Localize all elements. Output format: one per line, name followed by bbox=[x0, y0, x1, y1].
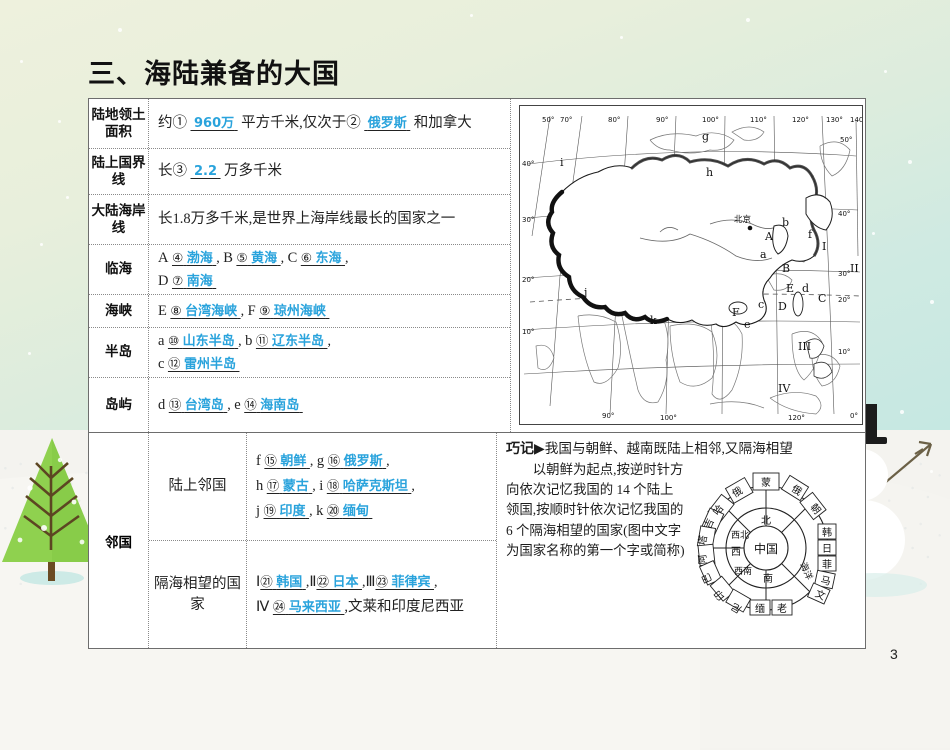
item-tag: k bbox=[316, 503, 323, 519]
svg-text:90°: 90° bbox=[602, 412, 614, 420]
answer-blank-18[interactable]: 哈萨克斯坦 bbox=[343, 479, 408, 494]
answer-blank-16[interactable]: 俄罗斯 bbox=[344, 454, 383, 469]
answer-blank-12[interactable]: 雷州半岛 bbox=[184, 357, 236, 372]
svg-text:110°: 110° bbox=[750, 116, 767, 124]
svg-text:IV: IV bbox=[778, 382, 791, 395]
row-header-coastline: 大陆海岸线 bbox=[89, 195, 149, 244]
svg-text:120°: 120° bbox=[792, 116, 809, 124]
slide-content: 三、海陆兼备的大国 3 陆地领土面积 约① 960万 平方千米,仅次于② 俄罗斯… bbox=[0, 0, 950, 713]
row-content-peninsulas: a ⑩ 山东半岛 , b ⑪ 辽东半岛 , c ⑫ 雷州半岛 bbox=[149, 328, 510, 377]
wheel-outer-korea-rok: 韩 bbox=[822, 526, 832, 539]
row-content-land-border: 长③ 2.2 万多千米 bbox=[149, 149, 510, 194]
item-tag: C bbox=[288, 250, 298, 266]
tip-body-text: 以朝鲜为起点,按逆时针方向依次记忆我国的 14 个陆上领国,按顺时针依次记忆我国… bbox=[506, 460, 686, 628]
tip-cell: 巧记▶我国与朝鲜、越南既陆上相邻,又隔海相望 以朝鲜为起点,按逆时针方向依次记忆… bbox=[496, 433, 865, 648]
svg-text:III: III bbox=[798, 340, 811, 353]
svg-text:20°: 20° bbox=[838, 296, 850, 304]
svg-text:d: d bbox=[802, 282, 809, 295]
item-number: ⑲ bbox=[264, 503, 277, 518]
svg-text:40°: 40° bbox=[522, 160, 534, 168]
wheel-dir-west: 西 bbox=[731, 547, 741, 558]
table-row: 大陆海岸线 长1.8万多千米,是世界上海岸线最长的国家之一 bbox=[89, 195, 510, 245]
wheel-outer-philippines: 菲 bbox=[822, 559, 832, 571]
row-header-land-border: 陆上国界线 bbox=[89, 149, 149, 194]
svg-text:130°: 130° bbox=[826, 116, 843, 124]
item-tag: D bbox=[158, 273, 168, 289]
svg-text:80°: 80° bbox=[608, 116, 620, 124]
answer-blank-20[interactable]: 缅甸 bbox=[343, 504, 369, 519]
svg-text:E: E bbox=[786, 282, 794, 295]
item-tag: F bbox=[248, 303, 256, 319]
item-number: ⑭ bbox=[244, 397, 257, 412]
svg-text:50°: 50° bbox=[542, 116, 554, 124]
text-middle: 平方千米,仅次于② bbox=[241, 115, 361, 131]
tip-headline: 我国与朝鲜、越南既陆上相邻,又隔海相望 bbox=[545, 441, 793, 456]
land-neighbors-content: f ⑮ 朝鲜 , g ⑯ 俄罗斯 , h ⑰ 蒙古 , i ⑱ 哈萨克斯坦 , bbox=[247, 433, 496, 540]
wheel-outer-mongolia: 蒙 bbox=[761, 476, 771, 489]
item-tag: h bbox=[256, 478, 263, 494]
item-tag: c bbox=[158, 356, 164, 372]
answer-blank-15[interactable]: 朝鲜 bbox=[280, 454, 306, 469]
table-row: 半岛 a ⑩ 山东半岛 , b ⑪ 辽东半岛 , c ⑫ 雷州半岛 bbox=[89, 328, 510, 378]
sea-neighbors-content: Ⅰ㉑ 韩国 ,Ⅱ㉒ 日本 ,Ⅲ㉓ 菲律宾 , Ⅳ ㉔ 马来西亚 ,文莱和印度尼西… bbox=[247, 541, 496, 648]
item-number: ⑰ bbox=[267, 478, 280, 493]
page-number: 3 bbox=[890, 646, 898, 662]
item-number: ⑳ bbox=[327, 503, 340, 518]
answer-blank-3[interactable]: 2.2 bbox=[194, 164, 217, 179]
row-header-peninsulas: 半岛 bbox=[89, 328, 149, 377]
table-row: 岛屿 d ⑬ 台湾岛 , e ⑭ 海南岛 bbox=[89, 378, 510, 432]
item-number: ㉒ bbox=[316, 574, 329, 589]
item-number: ⑤ bbox=[236, 250, 247, 265]
answer-blank-4[interactable]: 渤海 bbox=[187, 251, 213, 266]
answer-blank-14[interactable]: 海南岛 bbox=[260, 398, 299, 413]
item-tag: A bbox=[158, 250, 168, 266]
answer-blank-21[interactable]: 韩国 bbox=[276, 575, 302, 590]
row-header-seas: 临海 bbox=[89, 245, 149, 294]
svg-text:40°: 40° bbox=[838, 210, 850, 218]
item-tag: Ⅳ bbox=[256, 599, 269, 615]
neighbors-sea-row: 隔海相望的国家 Ⅰ㉑ 韩国 ,Ⅱ㉒ 日本 ,Ⅲ㉓ 菲律宾 , Ⅳ ㉔ 马来西亚 … bbox=[149, 541, 496, 648]
item-tag: E bbox=[158, 303, 167, 319]
answer-blank-2[interactable]: 俄罗斯 bbox=[368, 116, 407, 131]
china-map-svg: 北京 50°70° 80°90° 100°110° 120°130° 140° … bbox=[520, 106, 862, 424]
svg-text:0°: 0° bbox=[850, 412, 858, 420]
sea-neighbors-tail: ,文莱和印度尼西亚 bbox=[344, 599, 464, 615]
item-tag: d bbox=[158, 397, 165, 413]
china-map-figure: 北京 50°70° 80°90° 100°110° 120°130° 140° … bbox=[519, 105, 863, 425]
answer-blank-17[interactable]: 蒙古 bbox=[283, 479, 309, 494]
neighbors-land-row: 陆上邻国 f ⑮ 朝鲜 , g ⑯ 俄罗斯 , h ⑰ 蒙古 , bbox=[149, 433, 496, 541]
svg-text:20°: 20° bbox=[522, 276, 534, 284]
svg-text:b: b bbox=[782, 216, 789, 229]
item-tag: e bbox=[234, 397, 240, 413]
item-tag: g bbox=[317, 453, 324, 469]
tip-label: 巧记 bbox=[506, 441, 534, 457]
answer-blank-10[interactable]: 山东半岛 bbox=[183, 334, 235, 349]
svg-text:k: k bbox=[650, 314, 657, 327]
svg-text:70°: 70° bbox=[560, 116, 572, 124]
item-number: ㉔ bbox=[273, 599, 286, 614]
item-number: ⑱ bbox=[327, 478, 340, 493]
item-tag: B bbox=[223, 250, 233, 266]
text-prefix: 长③ bbox=[158, 163, 187, 179]
wheel-dir-north: 北 bbox=[761, 515, 771, 527]
answer-blank-9[interactable]: 琼州海峡 bbox=[274, 304, 326, 319]
svg-text:D: D bbox=[778, 300, 787, 313]
text-suffix: 万多千米 bbox=[224, 163, 282, 179]
svg-text:e: e bbox=[744, 318, 751, 331]
item-number: ⑬ bbox=[169, 397, 182, 412]
item-number: ⑪ bbox=[256, 333, 269, 348]
item-tag: i bbox=[319, 478, 323, 494]
row-content-seas: A ④ 渤海 , B ⑤ 黄海 , C ⑥ 东海 , D ⑦ 南海 bbox=[149, 245, 510, 294]
table-row: 陆上国界线 长③ 2.2 万多千米 bbox=[89, 149, 510, 195]
svg-text:30°: 30° bbox=[522, 216, 534, 224]
item-number: ⑥ bbox=[301, 250, 312, 265]
neighbors-block: 邻国 陆上邻国 f ⑮ 朝鲜 , g ⑯ 俄罗斯 , h bbox=[89, 433, 496, 648]
svg-text:100°: 100° bbox=[660, 414, 677, 422]
svg-text:30°: 30° bbox=[838, 270, 850, 278]
svg-text:10°: 10° bbox=[522, 328, 534, 336]
row-content-straits: E ⑧ 台湾海峡 , F ⑨ 琼州海峡 bbox=[149, 295, 510, 327]
text-suffix: 和加拿大 bbox=[414, 115, 472, 131]
svg-text:90°: 90° bbox=[656, 116, 668, 124]
svg-text:I: I bbox=[822, 240, 826, 253]
item-number: ㉓ bbox=[375, 574, 388, 589]
item-tag: f bbox=[256, 453, 261, 469]
svg-text:II: II bbox=[850, 262, 859, 275]
wheel-center-label: 中国 bbox=[754, 541, 778, 556]
mnemonic-wheel-svg: 中国 北 西北 西 西南 南 海洋 bbox=[688, 462, 856, 628]
table-row: 海峡 E ⑧ 台湾海峡 , F ⑨ 琼州海峡 bbox=[89, 295, 510, 328]
table-left-column: 陆地领土面积 约① 960万 平方千米,仅次于② 俄罗斯 和加拿大 陆上国界线 bbox=[89, 99, 510, 432]
tip-marker-icon: ▶ bbox=[534, 441, 545, 457]
wheel-dir-south: 南 bbox=[763, 572, 773, 585]
svg-text:h: h bbox=[706, 166, 713, 179]
row-header-straits: 海峡 bbox=[89, 295, 149, 327]
svg-text:10°: 10° bbox=[838, 348, 850, 356]
item-tag: a bbox=[158, 333, 164, 349]
item-tag: b bbox=[245, 333, 252, 349]
answer-blank-6[interactable]: 东海 bbox=[316, 251, 342, 266]
item-tag: j bbox=[256, 503, 260, 519]
item-number: ⑩ bbox=[168, 333, 179, 348]
coastline-text: 长1.8万多千米,是世界上海岸线最长的国家之一 bbox=[158, 208, 504, 230]
row-header-islands: 岛屿 bbox=[89, 378, 149, 432]
item-number: ④ bbox=[172, 250, 183, 265]
answer-blank-5[interactable]: 黄海 bbox=[251, 251, 277, 266]
svg-text:g: g bbox=[702, 130, 709, 143]
answer-blank-13[interactable]: 台湾岛 bbox=[185, 398, 224, 413]
item-tag: Ⅲ bbox=[365, 574, 375, 590]
answer-blank-22[interactable]: 日本 bbox=[332, 575, 358, 590]
table-row: 陆地领土面积 约① 960万 平方千米,仅次于② 俄罗斯 和加拿大 bbox=[89, 99, 510, 149]
map-cell: 北京 50°70° 80°90° 100°110° 120°130° 140° … bbox=[510, 99, 865, 432]
row-content-islands: d ⑬ 台湾岛 , e ⑭ 海南岛 bbox=[149, 378, 510, 432]
text-prefix: 约① bbox=[158, 115, 187, 131]
item-number: ⑫ bbox=[168, 356, 181, 371]
table-row: 临海 A ④ 渤海 , B ⑤ 黄海 , C ⑥ 东海 , D ⑦ 南海 bbox=[89, 245, 510, 295]
wheel-dir-northwest: 西北 bbox=[731, 530, 749, 541]
row-content-land-area: 约① 960万 平方千米,仅次于② 俄罗斯 和加拿大 bbox=[149, 99, 510, 148]
subheader-sea-neighbors: 隔海相望的国家 bbox=[149, 541, 247, 648]
tip-content: 巧记▶我国与朝鲜、越南既陆上相邻,又隔海相望 以朝鲜为起点,按逆时针方向依次记忆… bbox=[497, 433, 865, 648]
answer-blank-1[interactable]: 960万 bbox=[194, 116, 234, 131]
wheel-outer-japan: 日 bbox=[822, 544, 832, 555]
item-number: ⑮ bbox=[264, 453, 277, 468]
svg-text:B: B bbox=[782, 262, 790, 275]
content-table: 陆地领土面积 约① 960万 平方千米,仅次于② 俄罗斯 和加拿大 陆上国界线 bbox=[88, 98, 866, 649]
answer-blank-7[interactable]: 南海 bbox=[187, 274, 213, 289]
answer-blank-19[interactable]: 印度 bbox=[280, 504, 306, 519]
svg-text:C: C bbox=[818, 292, 826, 305]
item-number: ㉑ bbox=[260, 574, 273, 589]
svg-text:c: c bbox=[758, 298, 764, 311]
row-header-land-area: 陆地领土面积 bbox=[89, 99, 149, 148]
item-number: ⑨ bbox=[259, 303, 270, 318]
svg-text:100°: 100° bbox=[702, 116, 719, 124]
svg-text:120°: 120° bbox=[788, 414, 805, 422]
svg-text:a: a bbox=[760, 248, 767, 261]
svg-text:A: A bbox=[764, 230, 774, 243]
svg-text:140°: 140° bbox=[850, 116, 862, 124]
svg-text:i: i bbox=[560, 156, 564, 169]
svg-text:F: F bbox=[732, 306, 740, 319]
answer-blank-24[interactable]: 马来西亚 bbox=[289, 600, 341, 615]
subheader-land-neighbors: 陆上邻国 bbox=[149, 433, 247, 540]
item-number: ⑦ bbox=[172, 273, 183, 288]
wheel-outer-afghan: 阿 bbox=[697, 554, 710, 565]
wheel-outer-laos: 老 bbox=[777, 602, 787, 615]
item-number: ⑯ bbox=[328, 453, 341, 468]
row-header-neighbors: 邻国 bbox=[89, 433, 149, 648]
map-capital-label: 北京 bbox=[734, 214, 751, 225]
wheel-dir-southwest: 西南 bbox=[734, 565, 752, 577]
wheel-outer-myanmar: 缅 bbox=[755, 602, 765, 615]
item-number: ⑧ bbox=[170, 303, 181, 318]
svg-text:50°: 50° bbox=[840, 136, 852, 144]
answer-blank-23[interactable]: 菲律宾 bbox=[392, 575, 431, 590]
row-content-coastline: 长1.8万多千米,是世界上海岸线最长的国家之一 bbox=[149, 195, 510, 244]
answer-blank-11[interactable]: 辽东半岛 bbox=[272, 334, 324, 349]
page-title: 三、海陆兼备的大国 bbox=[88, 52, 340, 91]
mnemonic-wheel-diagram: 中国 北 西北 西 西南 南 海洋 bbox=[688, 460, 856, 628]
answer-blank-8[interactable]: 台湾海峡 bbox=[185, 304, 237, 319]
